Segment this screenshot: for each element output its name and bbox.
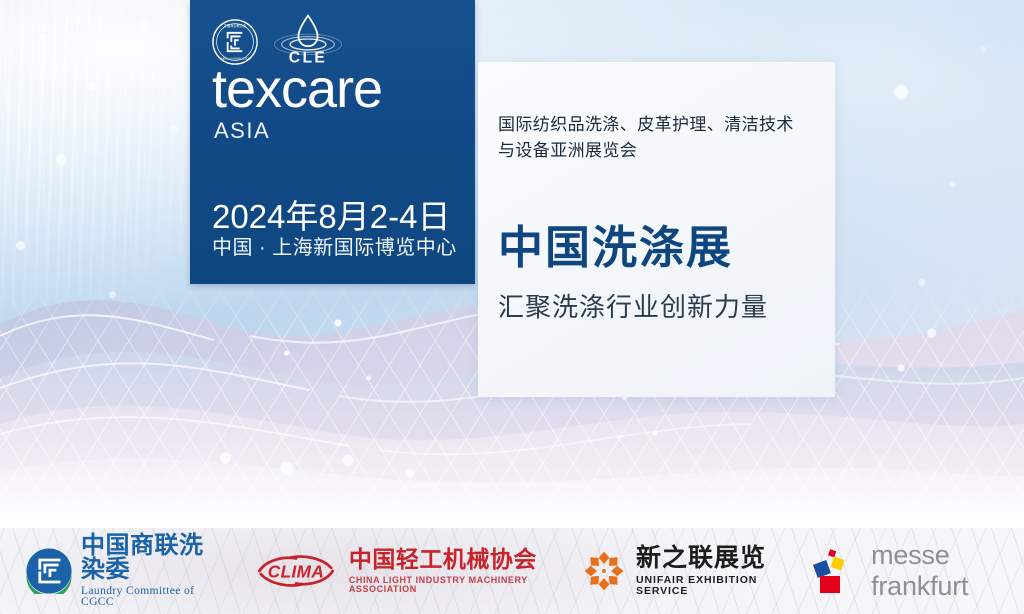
event-subtitle-line1: 国际纺织品洗涤、皮革护理、清洁技术 — [498, 112, 818, 138]
event-subtitle-line2: 与设备亚洲展览会 — [498, 138, 818, 164]
sponsor-logo-bar: 中国商联洗染委 Laundry Committee of CGCC CLIMA — [0, 528, 1024, 614]
logo-unifair[interactable]: 新之联展览 UNIFAIR EXHIBITION SERVICE — [582, 528, 785, 614]
cle-droplet-icon: CLE — [272, 13, 344, 65]
logo-cgcc[interactable]: 中国商联洗染委 Laundry Committee of CGCC — [26, 528, 225, 614]
messe-frankfurt-squares-icon — [807, 547, 863, 595]
logo-unifair-en: UNIFAIR EXHIBITION SERVICE — [636, 575, 785, 596]
cgcc-seal-icon — [26, 548, 72, 594]
panel-logo-row: 中国商业联合会 CHINA LAUNDRY CGCC CLE — [212, 13, 344, 65]
svg-text:中国商业联合会: 中国商业联合会 — [224, 23, 247, 28]
logo-clima-en: CHINA LIGHT INDUSTRY MACHINERY ASSOCIATI… — [349, 576, 556, 594]
unifair-flower-icon — [582, 549, 626, 593]
logo-messe-frankfurt[interactable]: messe frankfurt — [807, 528, 1024, 614]
event-description-panel: 国际纺织品洗涤、皮革护理、清洁技术 与设备亚洲展览会 中国洗涤展 汇聚洗涤行业创… — [478, 62, 835, 397]
logo-unifair-cn: 新之联展览 — [636, 546, 785, 571]
messe-frankfurt-wordmark: messe frankfurt — [871, 540, 1024, 602]
logo-cgcc-cn: 中国商联洗染委 — [81, 534, 225, 582]
logo-cgcc-en: Laundry Committee of CGCC — [81, 586, 225, 609]
event-title: 中国洗涤展 — [498, 225, 733, 270]
event-subtitle: 国际纺织品洗涤、皮革护理、清洁技术 与设备亚洲展览会 — [498, 112, 818, 165]
texcare-region: ASIA — [214, 118, 270, 144]
texcare-brand: texcare — [212, 62, 382, 116]
clima-mark-text: CLIMA — [268, 561, 324, 581]
exhibition-poster: 中国商业联合会 CHINA LAUNDRY CGCC CLE texcare A… — [0, 0, 1024, 614]
event-venue: 中国 · 上海新国际博览中心 — [212, 231, 457, 260]
clima-mark-icon: CLIMA — [253, 551, 339, 591]
event-tagline: 汇聚洗涤行业创新力量 — [498, 294, 768, 320]
logo-clima-cn: 中国轻工机械协会 — [349, 548, 556, 571]
logo-clima[interactable]: CLIMA 中国轻工机械协会 CHINA LIGHT INDUSTRY MACH… — [253, 528, 556, 614]
event-info-panel: 中国商业联合会 CHINA LAUNDRY CGCC CLE texcare A… — [190, 0, 475, 284]
